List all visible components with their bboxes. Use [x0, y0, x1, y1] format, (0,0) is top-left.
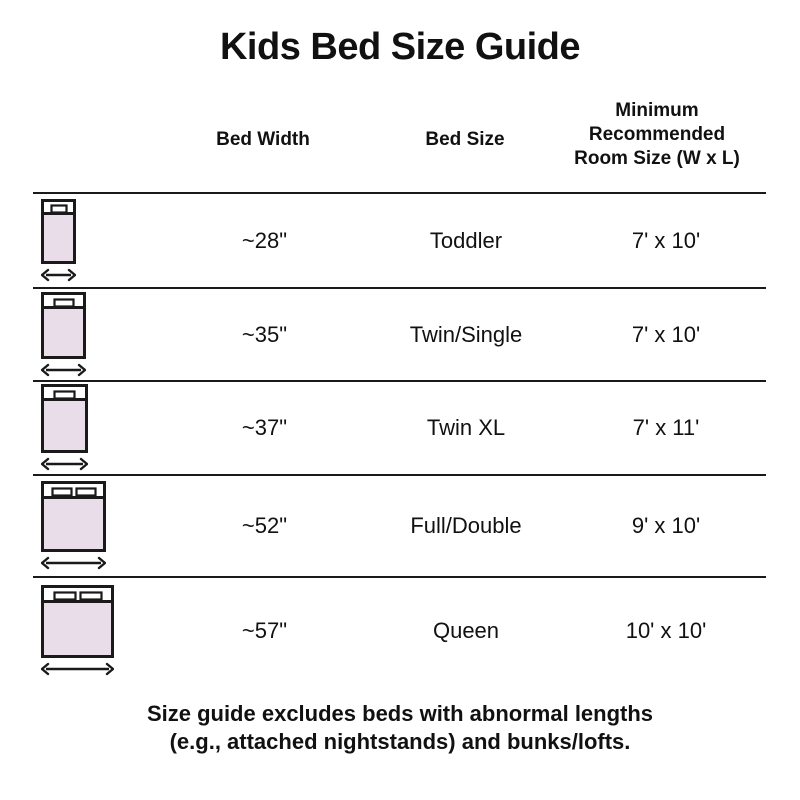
cell-bed-width: ~35": [163, 322, 366, 348]
footnote: Size guide excludes beds with abnormal l…: [40, 700, 760, 756]
column-header-room-size-line1: Minimum: [615, 100, 698, 121]
cell-bed-width: ~28": [163, 228, 366, 254]
table-row: ~35"Twin/Single7' x 10': [33, 287, 766, 380]
table-header-row: Bed Width Bed Size Minimum Recommended R…: [33, 92, 766, 192]
bed-illustration-cell: [33, 585, 163, 677]
table-row: ~28"Toddler7' x 10': [33, 192, 766, 287]
bed-illustration-cell: [33, 292, 163, 378]
cell-bed-width: ~57": [163, 618, 366, 644]
footnote-line-1: Size guide excludes beds with abnormal l…: [40, 700, 760, 728]
bed-toddler-icon: [41, 199, 76, 283]
bed-queen-icon: [41, 585, 114, 677]
bed-size-guide-infographic: Kids Bed Size Guide Bed Width Bed Size M…: [0, 0, 800, 800]
bed-twin-single-icon: [41, 292, 86, 378]
column-header-room-size: Minimum Recommended Room Size (W x L): [548, 99, 766, 171]
column-header-bed-width: Bed Width: [163, 128, 363, 152]
column-header-room-size-line2: Recommended: [589, 124, 725, 145]
bed-illustration-cell: [33, 481, 163, 571]
cell-room-size: 7' x 10': [566, 322, 766, 348]
cell-bed-size: Queen: [366, 618, 566, 644]
bed-full-double-icon: [41, 481, 106, 571]
table-row: ~52"Full/Double9' x 10': [33, 474, 766, 576]
column-header-bed-size: Bed Size: [365, 128, 565, 152]
cell-bed-size: Full/Double: [366, 513, 566, 539]
cell-bed-width: ~37": [163, 415, 366, 441]
cell-room-size: 7' x 10': [566, 228, 766, 254]
cell-bed-size: Toddler: [366, 228, 566, 254]
cell-room-size: 10' x 10': [566, 618, 766, 644]
bed-illustration-cell: [33, 199, 163, 283]
page-title: Kids Bed Size Guide: [0, 26, 800, 69]
bed-illustration-cell: [33, 384, 163, 472]
bed-twin-xl-icon: [41, 384, 88, 472]
bed-size-table: ~28"Toddler7' x 10' ~35"Twin/Single7' x …: [33, 192, 766, 683]
footnote-line-2: (e.g., attached nightstands) and bunks/l…: [40, 728, 760, 756]
column-header-room-size-line3: Room Size (W x L): [574, 148, 740, 169]
cell-room-size: 7' x 11': [566, 415, 766, 441]
cell-bed-width: ~52": [163, 513, 366, 539]
cell-bed-size: Twin XL: [366, 415, 566, 441]
table-row: ~37"Twin XL7' x 11': [33, 380, 766, 474]
table-row: ~57"Queen10' x 10': [33, 576, 766, 683]
cell-bed-size: Twin/Single: [366, 322, 566, 348]
cell-room-size: 9' x 10': [566, 513, 766, 539]
